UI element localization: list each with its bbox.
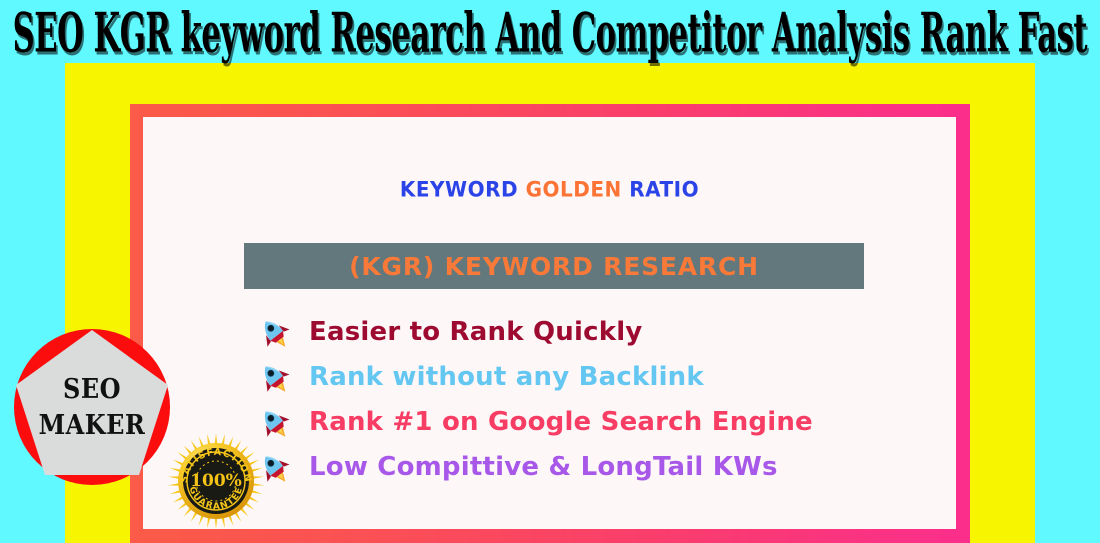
benefit-label: Rank #1 on Google Search Engine — [309, 407, 813, 437]
list-item: Low Compittive & LongTail KWs — [255, 444, 955, 489]
kgr-subtitle-text: (KGR) KEYWORD RESEARCH — [349, 252, 759, 281]
benefits-list: Easier to Rank Quickly — [255, 309, 955, 489]
headline-banner: SEO KGR keyword Research And Competitor … — [0, 0, 1100, 66]
guarantee-seal-shape: SATISFACTION GUARANTEE 100% — [167, 432, 265, 530]
hero-word-golden: GOLDEN — [526, 176, 622, 202]
guarantee-seal: SATISFACTION GUARANTEE 100% — [167, 432, 265, 530]
hero-title: KEYWORD GOLDEN RATIO — [143, 176, 956, 202]
benefit-label: Rank without any Backlink — [309, 362, 704, 392]
kgr-subtitle-bar: (KGR) KEYWORD RESEARCH — [244, 243, 864, 289]
list-item: Rank #1 on Google Search Engine — [255, 399, 955, 444]
benefit-label: Low Compittive & LongTail KWs — [309, 452, 778, 482]
seo-maker-badge-shape — [12, 325, 172, 490]
seo-maker-badge: SEO MAKER — [12, 325, 172, 490]
list-item: Rank without any Backlink — [255, 354, 955, 399]
hero-word-ratio: RATIO — [629, 176, 699, 202]
rocket-icon — [255, 314, 295, 350]
rocket-icon — [255, 359, 295, 395]
seal-center-text: 100% — [190, 471, 242, 491]
headline-text: SEO KGR keyword Research And Competitor … — [13, 6, 1088, 60]
poster-canvas: SEO KGR keyword Research And Competitor … — [0, 0, 1100, 543]
list-item: Easier to Rank Quickly — [255, 309, 955, 354]
hero-word-keyword: KEYWORD — [400, 176, 518, 202]
benefit-label: Easier to Rank Quickly — [309, 317, 642, 347]
